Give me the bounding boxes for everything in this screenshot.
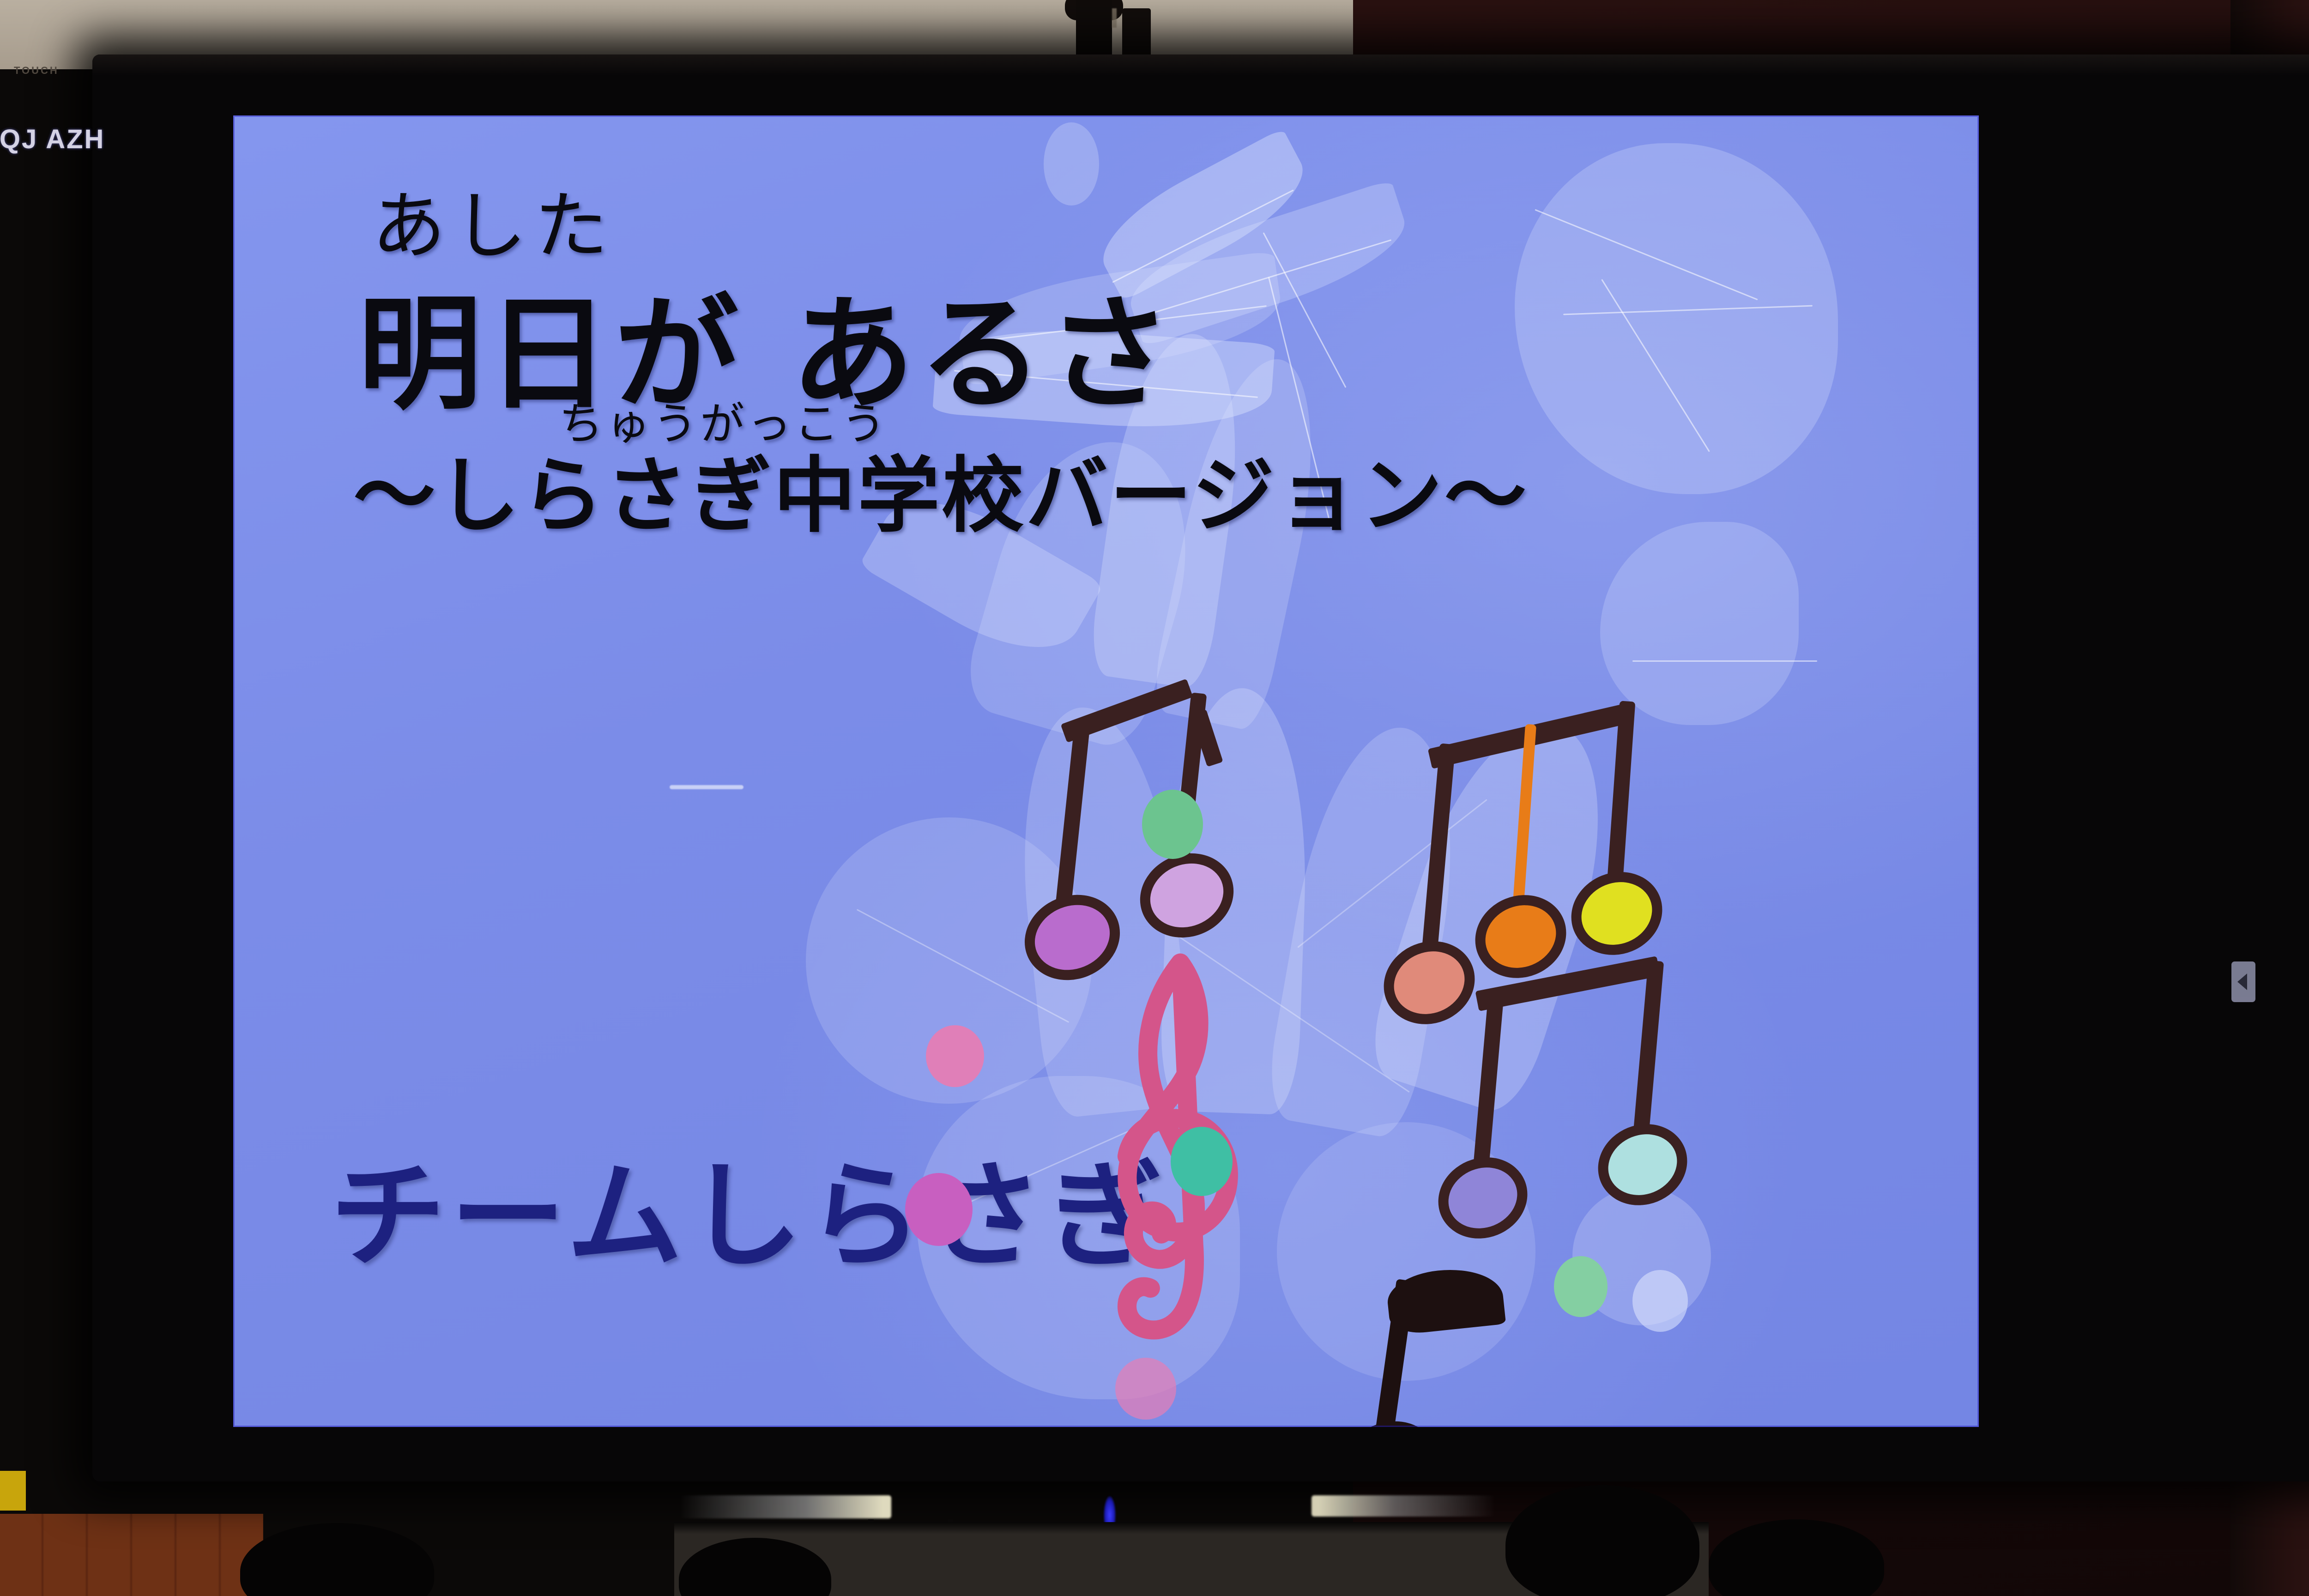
yellow-sticker — [0, 1471, 26, 1511]
monitor-menu-button[interactable] — [2231, 961, 2255, 1002]
audience-head — [240, 1523, 434, 1596]
bezel-reflection-right — [1312, 1495, 1496, 1517]
slide-subtitle: ～しらさぎ中学校バージョン～ — [353, 429, 1528, 548]
wooden-panel — [0, 1514, 263, 1596]
presentation-screen[interactable]: あした 明日が あるさ ちゅうがっこう ～しらさぎ中学校バージョン～ チームしら… — [233, 115, 1979, 1427]
mount-highlight — [1112, 8, 1117, 28]
accent-dot — [1632, 1270, 1688, 1332]
accent-dot — [1171, 1127, 1233, 1196]
accent-dot — [905, 1173, 973, 1246]
accent-dot — [926, 1025, 984, 1087]
accent-dot — [1142, 790, 1203, 859]
bezel-reflection-left — [679, 1495, 891, 1518]
photo-scene: TOUCH BQJ AZH — [0, 0, 2309, 1596]
touch-brand-label: TOUCH — [14, 65, 59, 77]
triangle-left-icon — [2237, 973, 2247, 990]
monitor-top-bezel — [92, 54, 2309, 76]
stray-line-artifact — [670, 785, 743, 789]
accent-dot — [1554, 1256, 1608, 1317]
decor-blob — [1044, 122, 1099, 206]
bezel-model-label: BQJ AZH — [0, 124, 105, 155]
accent-dot — [1115, 1358, 1176, 1420]
team-name-text: チームしらさぎ — [330, 1122, 1167, 1289]
